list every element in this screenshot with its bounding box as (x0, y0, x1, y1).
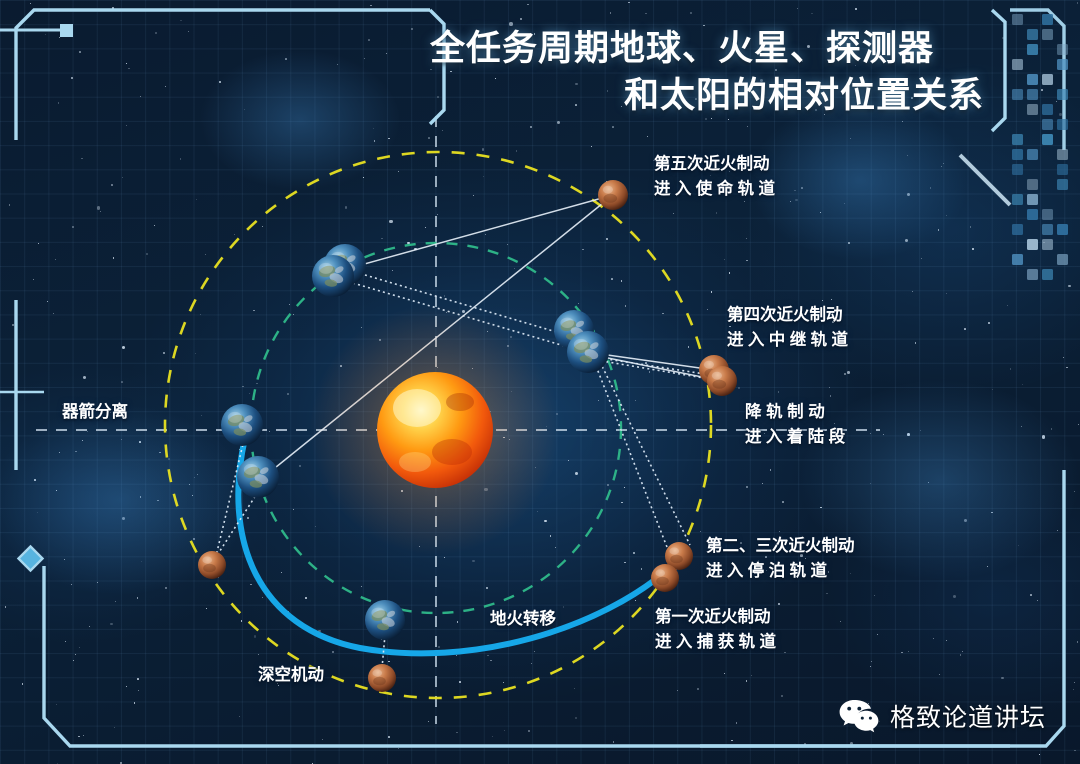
decor-square (1027, 239, 1038, 250)
label-separation-line1: 器箭分离 (62, 400, 128, 425)
label-event-23-line1: 第二、三次近火制动 (706, 534, 855, 559)
label-earth-mars-transfer: 地火转移 (490, 607, 556, 632)
decor-square (1027, 209, 1038, 220)
decor-square (1042, 74, 1053, 85)
decor-square (1012, 14, 1023, 25)
label-deep-space-maneuver: 深空机动 (258, 663, 324, 688)
label-event-4-line2: 进入中继轨道 (727, 328, 852, 353)
decor-square (1012, 149, 1023, 160)
sun (310, 305, 560, 555)
decor-square (1057, 164, 1068, 175)
earth-body (312, 255, 354, 297)
decor-square (1042, 134, 1053, 145)
decor-square (1042, 14, 1053, 25)
label-event-23-line2: 进入停泊轨道 (706, 559, 855, 584)
pixel-decor-column (1012, 14, 1072, 214)
decor-square (1042, 269, 1053, 280)
label-earth-mars-transfer-line1: 地火转移 (490, 607, 556, 632)
decor-square (1012, 194, 1023, 205)
infographic-canvas: 全任务周期地球、火星、探测器 和太阳的相对位置关系 第五次近火制动进入使命轨道第… (0, 0, 1080, 764)
decor-square (1012, 164, 1023, 175)
decor-square (1027, 149, 1038, 160)
decor-square (1012, 89, 1023, 100)
label-separation: 器箭分离 (62, 400, 128, 425)
earth-body (237, 456, 279, 498)
label-event-1: 第一次近火制动进入捕获轨道 (655, 605, 780, 655)
mars-body (707, 366, 737, 396)
decor-square (1057, 119, 1068, 130)
label-event-23: 第二、三次近火制动进入停泊轨道 (706, 534, 855, 584)
mars-body (598, 180, 628, 210)
decor-square (1012, 134, 1023, 145)
label-event-1-line2: 进入捕获轨道 (655, 630, 780, 655)
title-line-1: 全任务周期地球、火星、探测器 (430, 26, 990, 73)
mars-body (651, 564, 679, 592)
label-event-descent-line2: 进入着陆段 (745, 425, 850, 450)
decor-square (1027, 89, 1038, 100)
decor-square (1027, 29, 1038, 40)
decor-square (1027, 74, 1038, 85)
decor-square (1057, 149, 1068, 160)
label-event-5-line1: 第五次近火制动 (654, 152, 779, 177)
label-event-descent: 降 轨 制 动进入着陆段 (745, 400, 850, 450)
label-deep-space-maneuver-line1: 深空机动 (258, 663, 324, 688)
decor-square (1012, 254, 1023, 265)
decor-square (1057, 224, 1068, 235)
decor-square (1042, 209, 1053, 220)
label-event-1-line1: 第一次近火制动 (655, 605, 780, 630)
decor-square (1057, 179, 1068, 190)
decor-square (1012, 59, 1023, 70)
earth-body (221, 404, 263, 446)
decor-square (1057, 44, 1068, 55)
decor-square (1042, 104, 1053, 115)
mars-body (198, 551, 226, 579)
watermark-text: 格致论道讲坛 (890, 698, 1046, 734)
decor-square (1027, 194, 1038, 205)
decor-square (1057, 59, 1068, 70)
label-event-5-line2: 进入使命轨道 (654, 177, 779, 202)
wechat-icon (839, 699, 879, 733)
decor-square (1057, 254, 1068, 265)
decor-square (1042, 239, 1053, 250)
decor-square (1057, 89, 1068, 100)
decor-square (1042, 224, 1053, 235)
label-event-descent-line1: 降 轨 制 动 (745, 400, 850, 425)
page-title: 全任务周期地球、火星、探测器 和太阳的相对位置关系 (430, 26, 990, 119)
earth-body (567, 331, 609, 373)
mars-body (368, 664, 396, 692)
decor-square (1012, 224, 1023, 235)
decor-square (1027, 44, 1038, 55)
title-line-2: 和太阳的相对位置关系 (430, 73, 990, 120)
watermark: 格致论道讲坛 (839, 698, 1046, 734)
label-event-4: 第四次近火制动进入中继轨道 (727, 303, 852, 353)
decor-square (1042, 119, 1053, 130)
decor-square (1027, 104, 1038, 115)
decor-square (1027, 269, 1038, 280)
decor-square (1042, 29, 1053, 40)
decor-square (1027, 179, 1038, 190)
label-event-5: 第五次近火制动进入使命轨道 (654, 152, 779, 202)
earth-body (365, 600, 405, 640)
label-event-4-line1: 第四次近火制动 (727, 303, 852, 328)
